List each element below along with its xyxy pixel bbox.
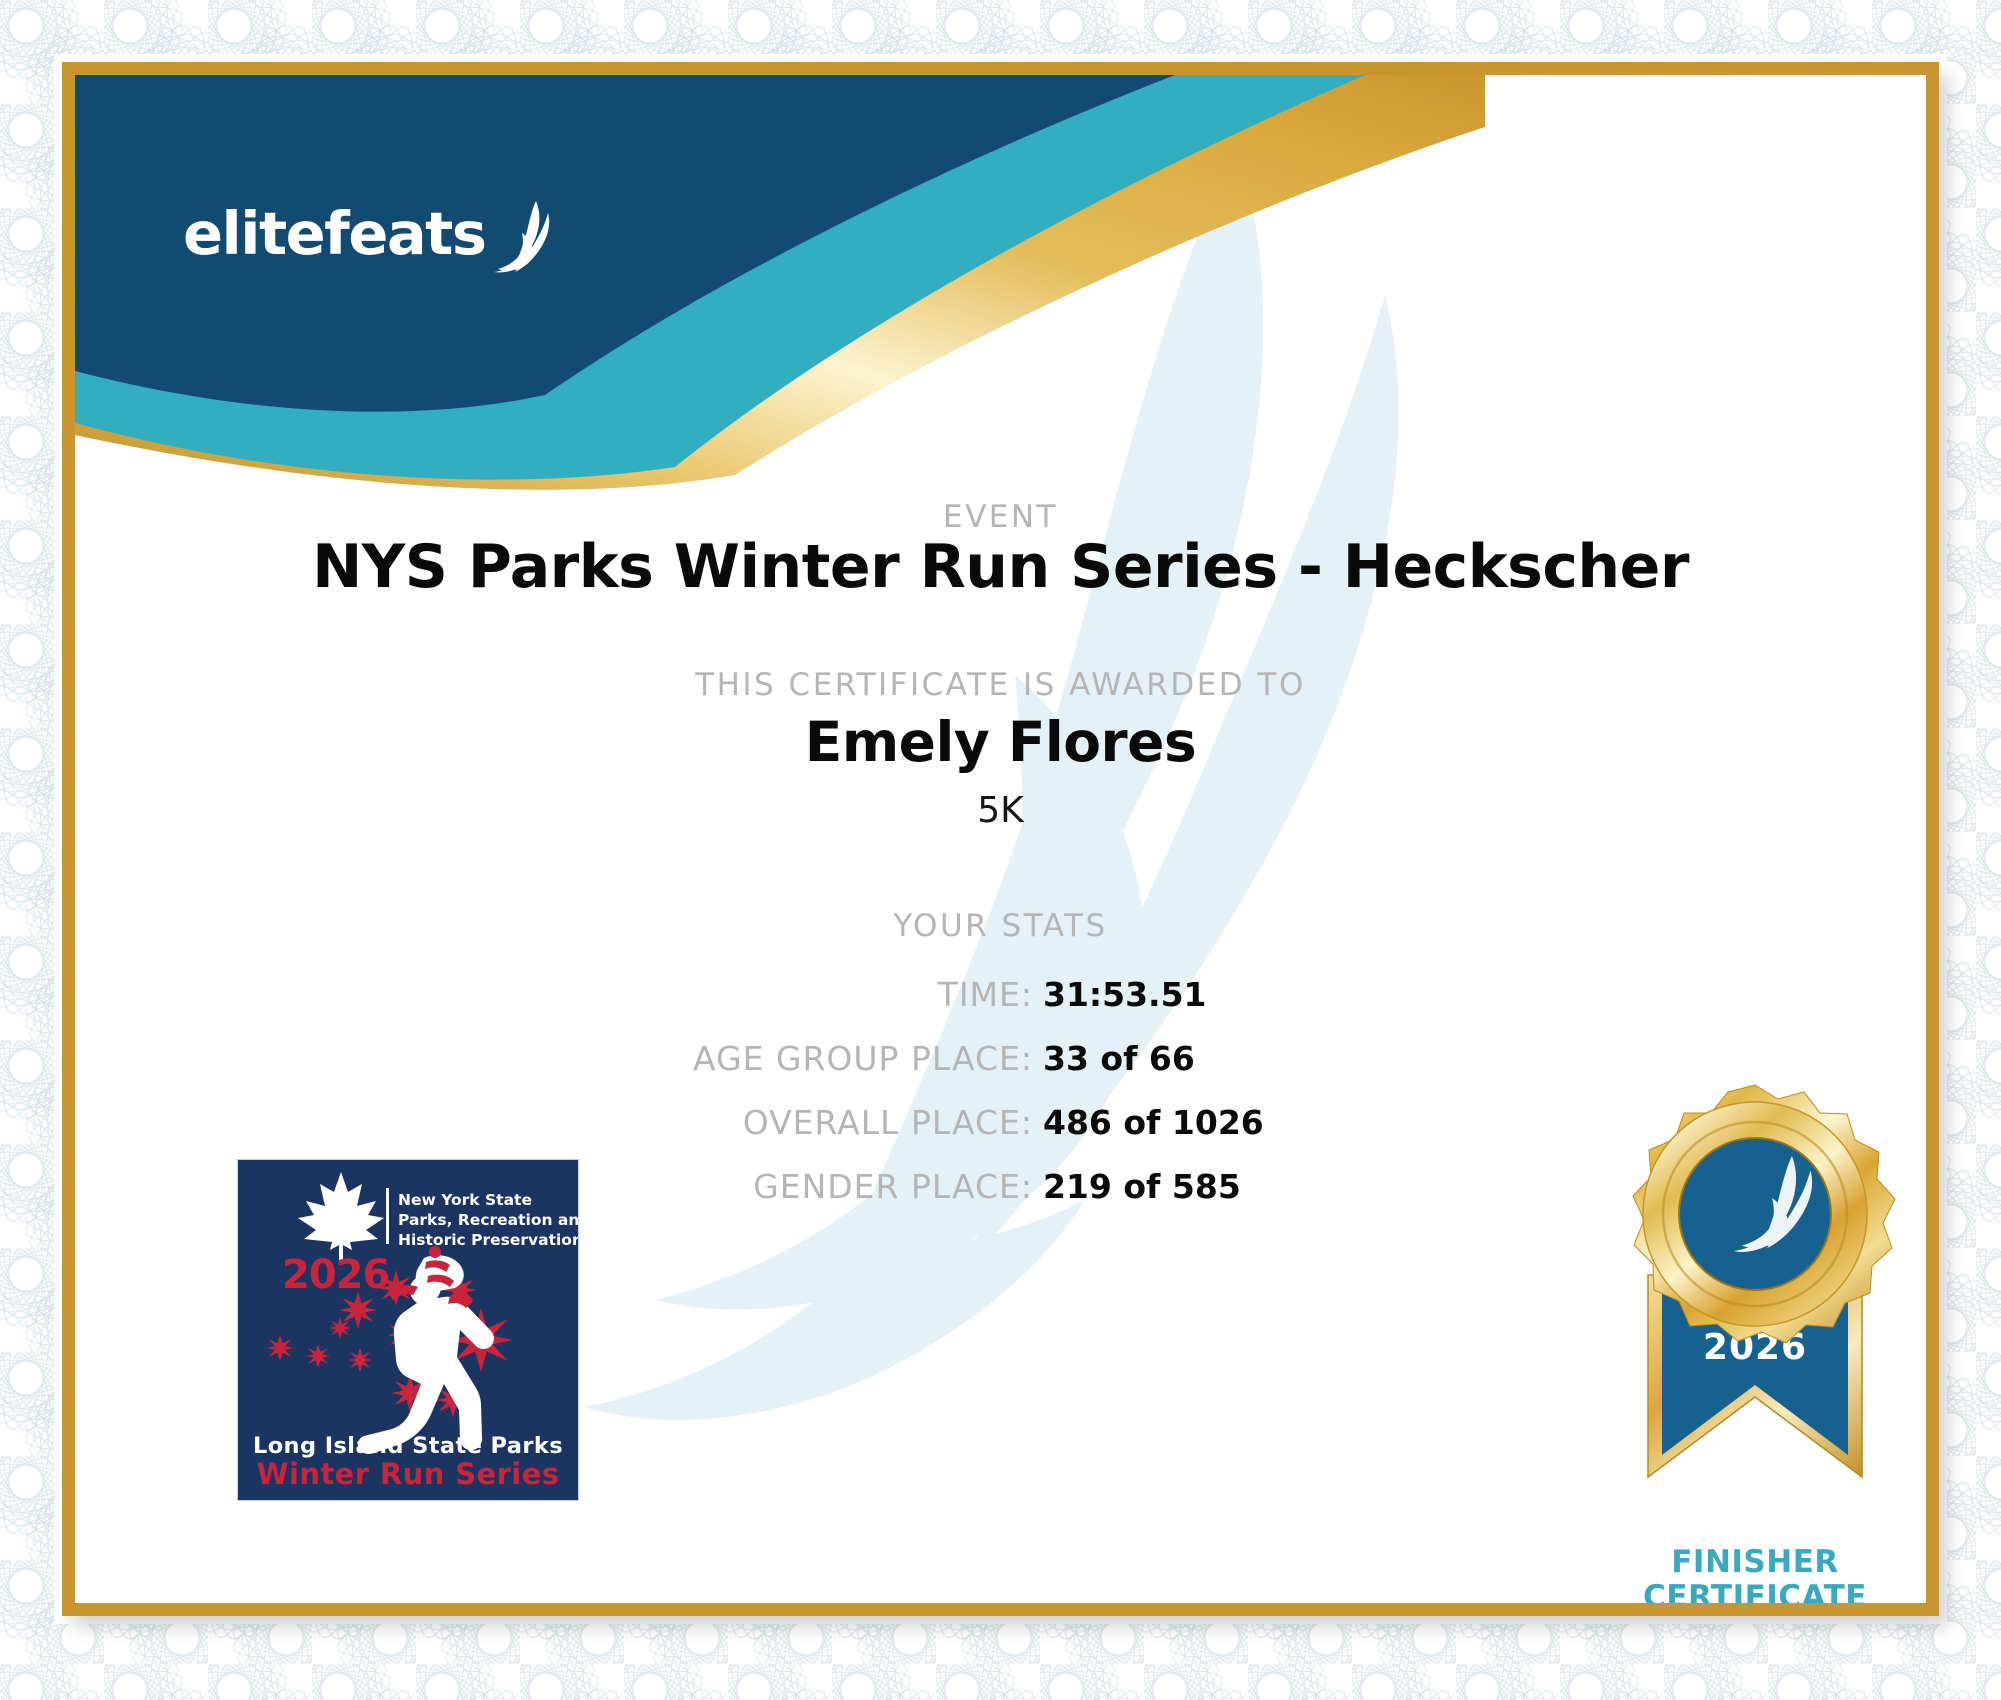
- event-logo-year: 2026: [282, 1252, 389, 1298]
- stat-value: 33 of 66: [1043, 1039, 1195, 1078]
- finisher-medal: 2026: [1570, 1075, 1926, 1515]
- recipient-distance: 5K: [75, 790, 1926, 831]
- agency-line-1: New York State: [398, 1191, 532, 1209]
- gold-border-frame: elitefeats EVENT NYS Parks Winter Run Se…: [62, 62, 1939, 1616]
- certificate-page: elitefeats EVENT NYS Parks Winter Run Se…: [0, 0, 2001, 1700]
- series-line-2: Winter Run Series: [257, 1457, 560, 1491]
- stat-label: AGE GROUP PLACE:: [75, 1039, 1043, 1078]
- stat-value: 31:53.51: [1043, 975, 1207, 1014]
- your-stats-label: YOUR STATS: [75, 908, 1926, 944]
- finisher-caption-line-1: FINISHER: [1570, 1545, 1926, 1580]
- finisher-certificate-caption: FINISHER CERTIFICATE: [1570, 1545, 1926, 1603]
- event-section-label: EVENT: [75, 499, 1926, 535]
- agency-line-3: Historic Preservation: [398, 1231, 578, 1249]
- stat-label: TIME:: [75, 975, 1043, 1014]
- agency-line-2: Parks, Recreation and: [398, 1211, 578, 1229]
- event-logo-badge: New York State Parks, Recreation and His…: [238, 1160, 578, 1500]
- stat-row-time: TIME: 31:53.51: [75, 975, 1346, 1014]
- event-title: NYS Parks Winter Run Series - Heckscher: [75, 532, 1926, 602]
- recipient-name: Emely Flores: [75, 710, 1926, 774]
- stat-row-age-group-place: AGE GROUP PLACE: 33 of 66: [75, 1039, 1346, 1078]
- series-line-1: Long Island State Parks: [253, 1433, 563, 1459]
- awarded-to-label: THIS CERTIFICATE IS AWARDED TO: [75, 667, 1926, 703]
- stat-value: 219 of 585: [1043, 1167, 1241, 1206]
- stat-row-overall-place: OVERALL PLACE: 486 of 1026: [75, 1103, 1346, 1142]
- finisher-caption-line-2: CERTIFICATE: [1570, 1580, 1926, 1603]
- certificate-inner-card: elitefeats EVENT NYS Parks Winter Run Se…: [75, 75, 1926, 1603]
- stat-label: OVERALL PLACE:: [75, 1103, 1043, 1142]
- stat-value: 486 of 1026: [1043, 1103, 1264, 1142]
